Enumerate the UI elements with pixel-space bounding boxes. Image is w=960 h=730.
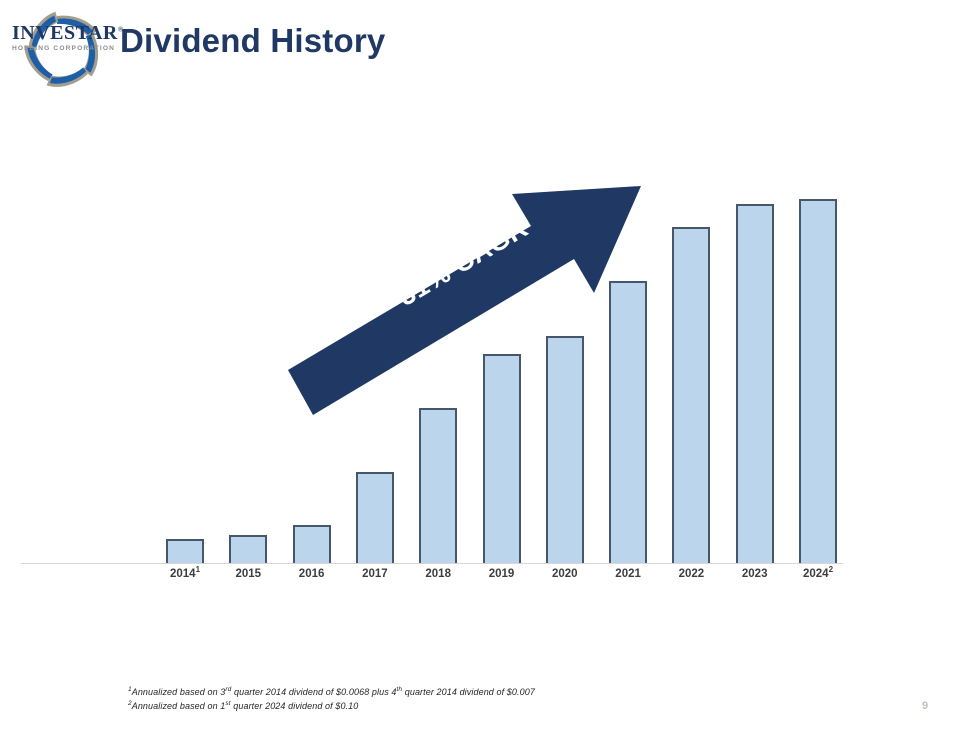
footer-logo-wordmark: INVESTAR® [12, 23, 124, 43]
x-axis-tick-year: 2024 [803, 568, 829, 580]
footnote-1-part-c: quarter 2014 dividend of $0.007 [402, 687, 535, 697]
footer-logo-wordmark-text: INVESTAR [12, 22, 118, 44]
x-axis-tick-footnote-mark: 1 [196, 565, 200, 574]
x-axis-tick-footnote-mark: 2 [829, 565, 833, 574]
x-axis-tick-year: 2017 [362, 568, 388, 580]
x-axis-tick-year: 2020 [552, 568, 578, 580]
x-axis-tick-year: 2023 [742, 568, 768, 580]
registered-mark-icon: ® [118, 25, 124, 33]
x-axis-tick-year: 2016 [299, 568, 325, 580]
x-axis-tick-label: 20242 [773, 568, 863, 580]
footnote-1: 1Annualized based on 3rd quarter 2014 di… [128, 686, 535, 697]
footer-logo-subtext: HOLDING CORPORATION [12, 45, 124, 52]
footnote-2: 2Annualized based on 1st quarter 2024 di… [128, 700, 358, 711]
footnote-1-part-a: Annualized based on 3 [132, 687, 226, 697]
x-axis-tick-year: 2014 [170, 568, 196, 580]
x-axis-tick-year: 2019 [489, 568, 515, 580]
x-axis: 2014120152016201720182019202020212022202… [0, 0, 960, 660]
footnote-2-part-a: Annualized based on 1 [132, 701, 226, 711]
x-axis-tick-year: 2018 [425, 568, 451, 580]
page-number: 9 [922, 700, 928, 712]
footnote-1-part-b: quarter 2014 dividend of $0.0068 plus 4 [231, 687, 396, 697]
footer-divider [0, 660, 960, 661]
dividend-history-bar-chart: $0.45$0.40$0.35$0.30$0.25$0.20$0.15$0.10… [0, 0, 960, 660]
investar-footer-logo: INVESTAR® HOLDING CORPORATION [12, 23, 124, 52]
footnote-2-part-b: quarter 2024 dividend of $0.10 [231, 701, 359, 711]
x-axis-tick-year: 2015 [236, 568, 262, 580]
x-axis-tick-year: 2021 [615, 568, 641, 580]
x-axis-tick-year: 2022 [679, 568, 705, 580]
